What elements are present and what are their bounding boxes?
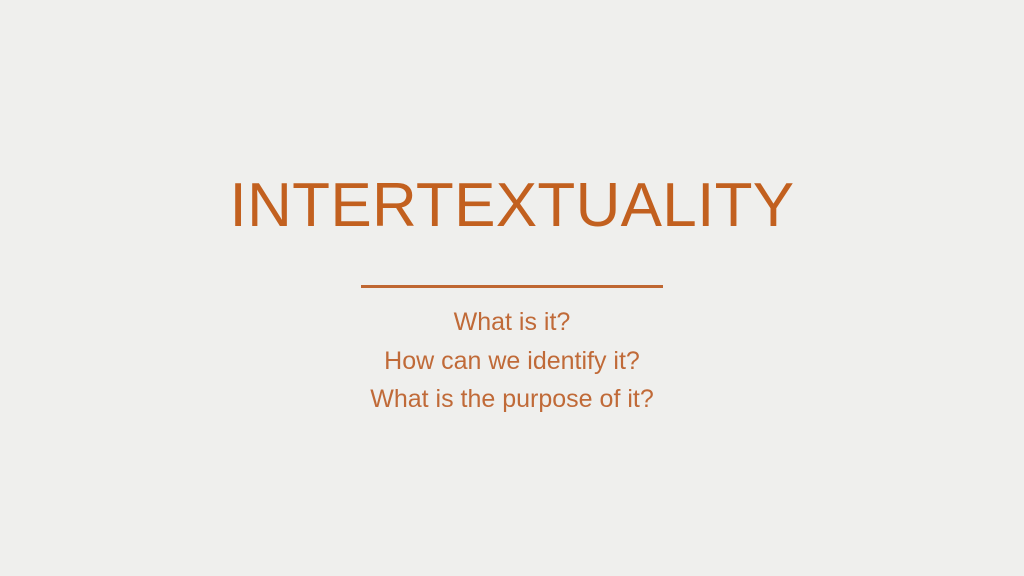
subtitle-block: What is it? How can we identify it? What… (0, 303, 1024, 419)
subtitle-line-1: What is it? (0, 303, 1024, 342)
title-divider-rule (361, 285, 663, 288)
slide-title: INTERTEXTUALITY (0, 173, 1024, 238)
title-block: INTERTEXTUALITY (0, 173, 1024, 238)
subtitle-line-2: How can we identify it? (0, 342, 1024, 381)
subtitle-line-3: What is the purpose of it? (0, 380, 1024, 419)
presentation-slide: INTERTEXTUALITY What is it? How can we i… (0, 0, 1024, 576)
